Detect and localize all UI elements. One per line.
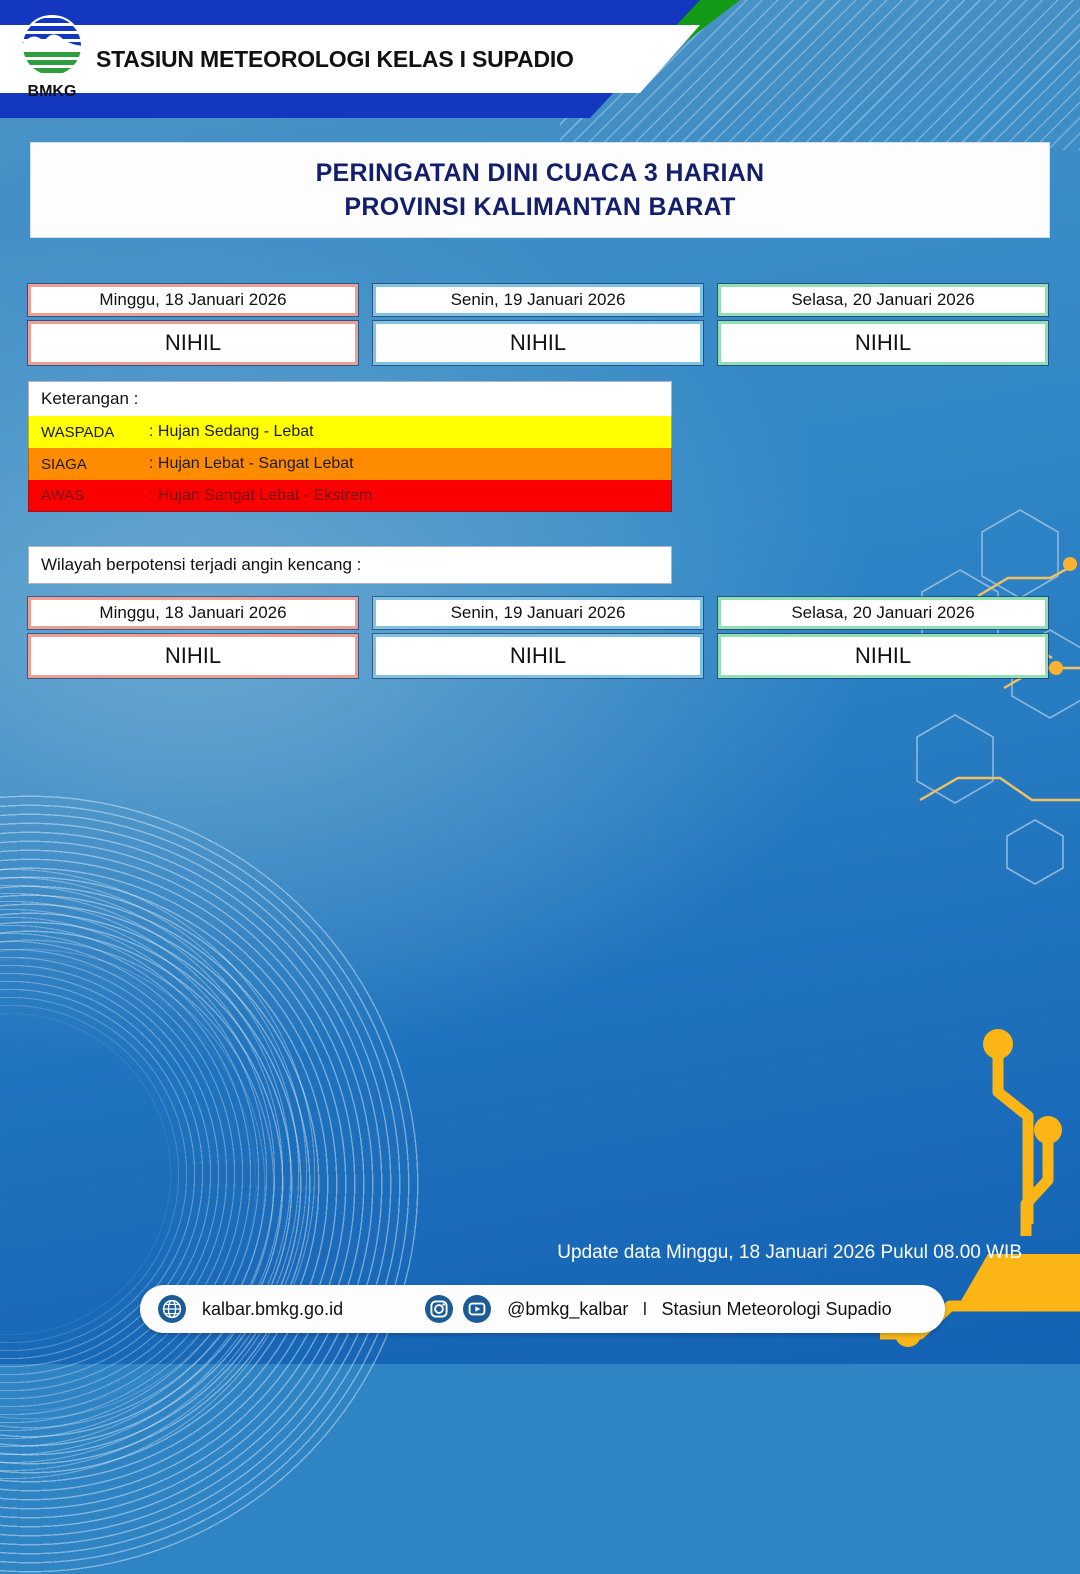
legend-panel: Keterangan : WASPADA : Hujan Sedang - Le… [28,381,672,512]
bmkg-logo-text: BMKG [28,83,77,100]
wind-column-2: Selasa, 20 Januari 2026 NIHIL [718,597,1048,678]
forecast-column-1: Senin, 19 Januari 2026 NIHIL [373,284,703,365]
globe-icon[interactable] [158,1295,186,1323]
wind-date-0: Minggu, 18 Januari 2026 [28,597,358,629]
title-line-2: PROVINSI KALIMANTAN BARAT [344,190,735,224]
footer-separator: I [642,1299,647,1320]
agency-title: STASIUN METEOROLOGI KELAS I SUPADIO [96,46,574,73]
forecast-column-2: Selasa, 20 Januari 2026 NIHIL [718,284,1048,365]
footer-contact-bar: kalbar.bmkg.go.id @bmkg_kalbar I Stasiun… [140,1285,945,1333]
wind-value-1: NIHIL [373,634,703,678]
page-header: STASIUN METEOROLOGI KELAS I SUPADIO BMKG [0,0,1080,118]
wind-date-2: Selasa, 20 Januari 2026 [718,597,1048,629]
legend-row-siaga: SIAGA : Hujan Lebat - Sangat Lebat [28,448,672,480]
legend-level-siaga: SIAGA [29,456,149,473]
youtube-icon[interactable] [463,1295,491,1323]
forecast-date-2: Selasa, 20 Januari 2026 [718,284,1048,316]
legend-desc-awas: : Hujan Sangat Lebat - Ekstrem [149,487,671,505]
forecast-date-1: Senin, 19 Januari 2026 [373,284,703,316]
wind-date-1: Senin, 19 Januari 2026 [373,597,703,629]
update-timestamp: Update data Minggu, 18 Januari 2026 Puku… [557,1242,1022,1264]
legend-heading: Keterangan : [28,381,672,416]
instagram-icon[interactable] [425,1295,453,1323]
rain-forecast-row: Minggu, 18 Januari 2026 NIHIL Senin, 19 … [0,284,1080,365]
legend-level-waspada: WASPADA [29,424,149,441]
wind-value-0: NIHIL [28,634,358,678]
forecast-date-0: Minggu, 18 Januari 2026 [28,284,358,316]
forecast-column-0: Minggu, 18 Januari 2026 NIHIL [28,284,358,365]
legend-row-waspada: WASPADA : Hujan Sedang - Lebat [28,416,672,448]
title-line-1: PERINGATAN DINI CUACA 3 HARIAN [316,156,765,190]
legend-row-awas: AWAS : Hujan Sangat Lebat - Ekstrem [28,480,672,512]
wind-forecast-row: Minggu, 18 Januari 2026 NIHIL Senin, 19 … [0,597,1080,678]
main-title-card: PERINGATAN DINI CUACA 3 HARIAN PROVINSI … [30,142,1050,238]
wind-value-2: NIHIL [718,634,1048,678]
wind-section-heading: Wilayah berpotensi terjadi angin kencang… [28,546,672,584]
station-name: Stasiun Meteorologi Supadio [661,1299,891,1320]
forecast-value-2: NIHIL [718,321,1048,365]
bmkg-logo: BMKG [14,10,90,102]
forecast-value-0: NIHIL [28,321,358,365]
legend-level-awas: AWAS [29,487,149,504]
website-link[interactable]: kalbar.bmkg.go.id [202,1299,343,1320]
wind-column-1: Senin, 19 Januari 2026 NIHIL [373,597,703,678]
forecast-value-1: NIHIL [373,321,703,365]
legend-desc-waspada: : Hujan Sedang - Lebat [149,423,671,441]
legend-desc-siaga: : Hujan Lebat - Sangat Lebat [149,455,671,473]
header-white-band: STASIUN METEOROLOGI KELAS I SUPADIO [0,25,700,93]
hexagon-decoration [900,500,1080,920]
social-handle[interactable]: @bmkg_kalbar [507,1299,628,1320]
wind-column-0: Minggu, 18 Januari 2026 NIHIL [28,597,358,678]
